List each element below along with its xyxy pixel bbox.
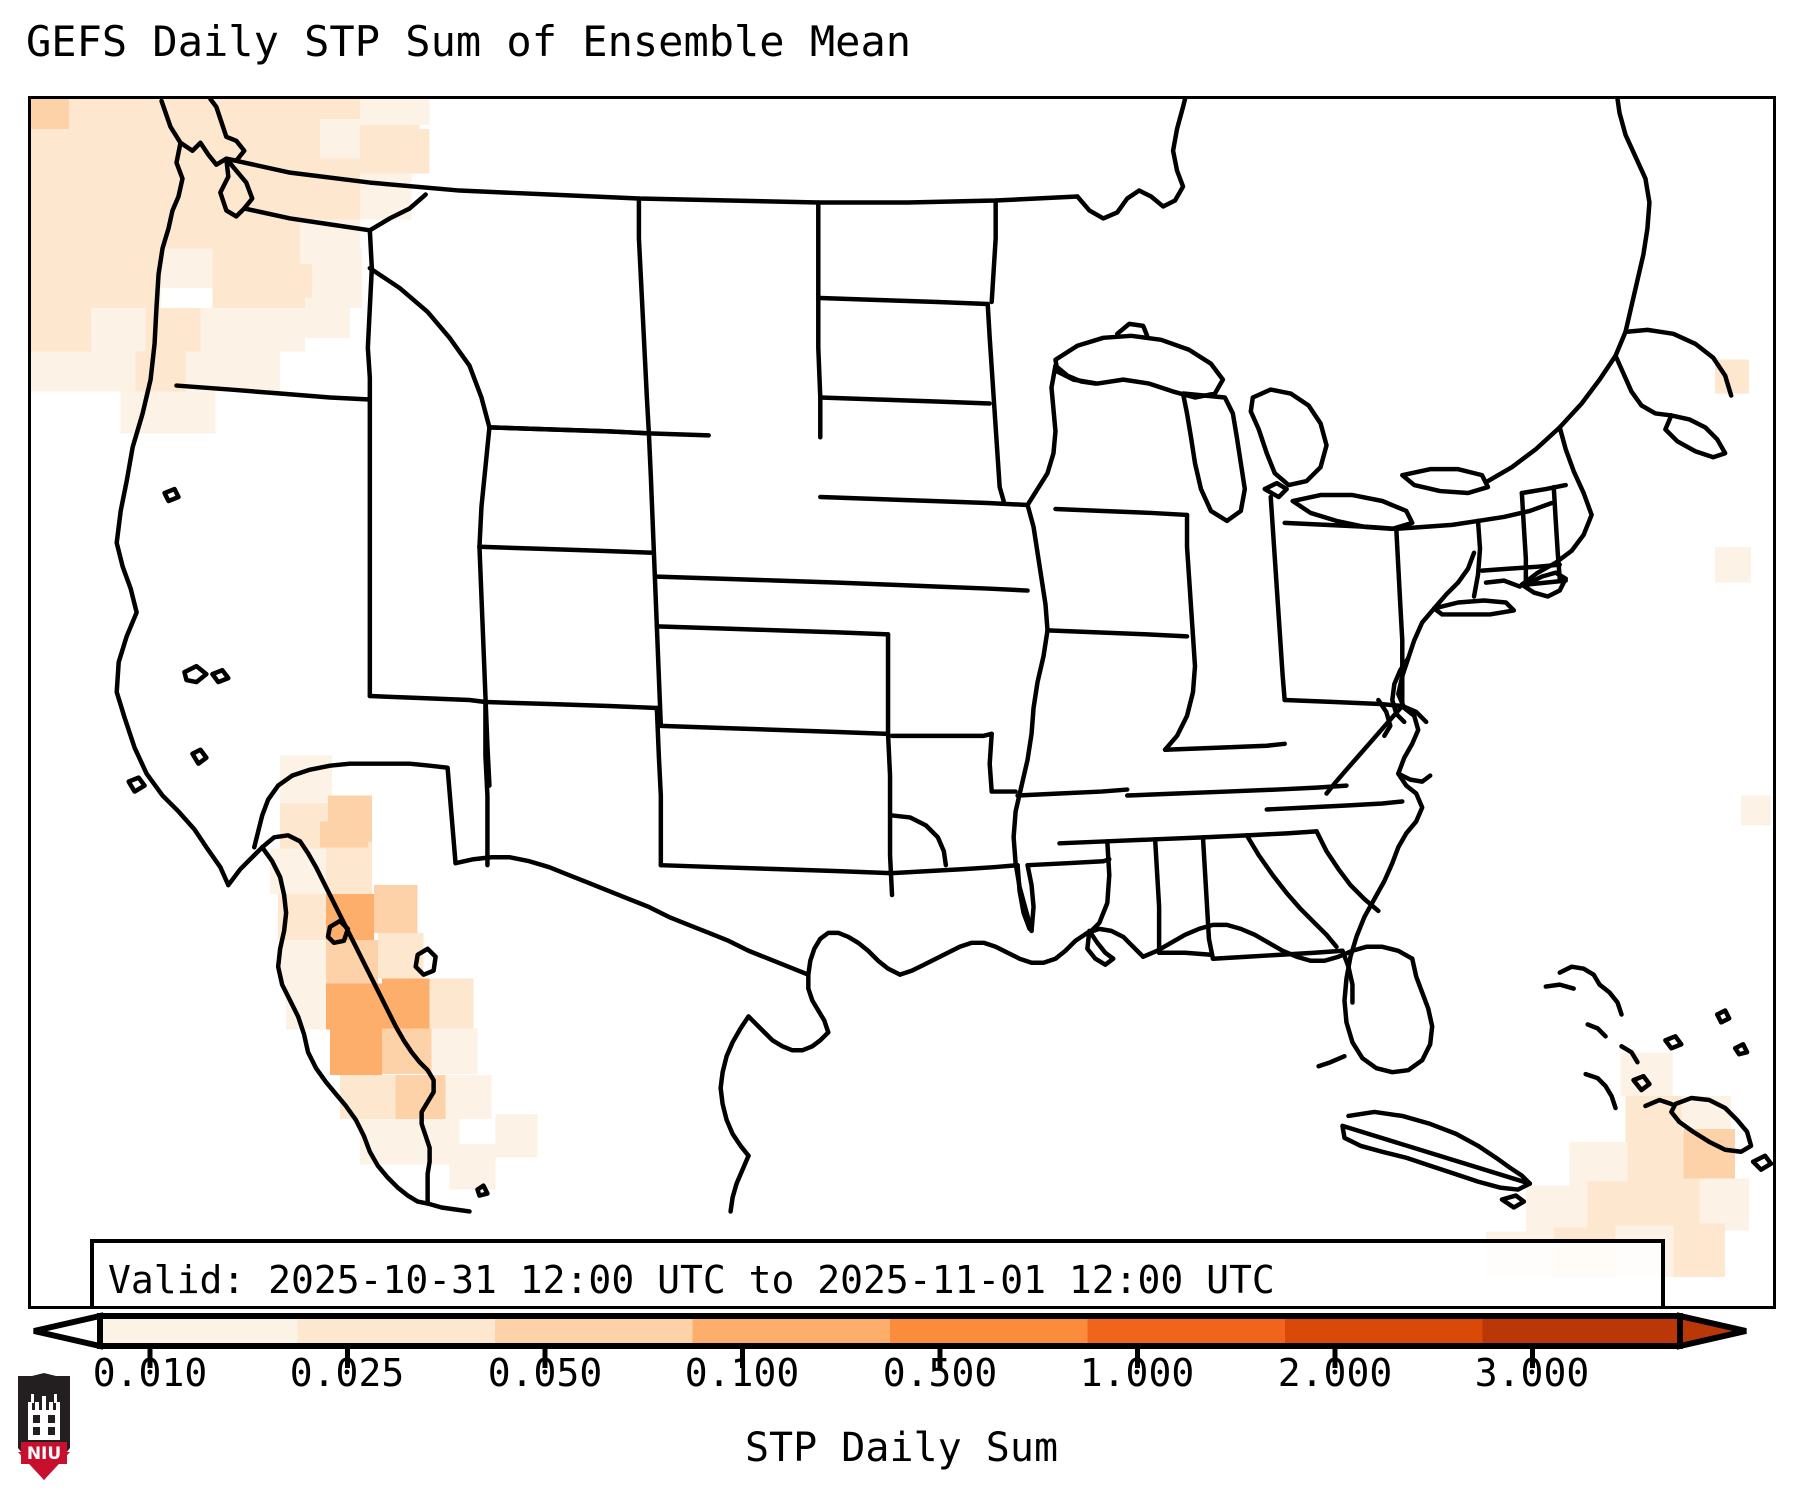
colorbar-axis-label: STP Daily Sum	[0, 1425, 1803, 1471]
cbar-seg-5	[1088, 1316, 1286, 1346]
metadata-box: Valid: 2025-10-31 12:00 UTC to 2025-11-0…	[90, 1239, 1665, 1309]
cbar-seg-3	[693, 1316, 891, 1346]
cbar-extend-min	[34, 1316, 100, 1346]
page-title: GEFS Daily STP Sum of Ensemble Mean	[26, 18, 911, 66]
cbar-label-4: 0.500	[883, 1352, 997, 1394]
cbar-label-7: 3.000	[1475, 1352, 1589, 1394]
figure-canvas: GEFS Daily STP Sum of Ensemble Mean	[0, 0, 1803, 1500]
cbar-seg-7	[1483, 1316, 1681, 1346]
cbar-label-6: 2.000	[1278, 1352, 1392, 1394]
cbar-seg-1	[298, 1316, 496, 1346]
colorbar-tick-labels: 0.010 0.025 0.050 0.100 0.500 1.000 2.00…	[0, 1352, 1803, 1402]
niu-logo-text: NIU	[27, 1444, 61, 1464]
cbar-seg-0	[100, 1316, 298, 1346]
cbar-seg-2	[495, 1316, 693, 1346]
cbar-label-5: 1.000	[1080, 1352, 1194, 1394]
map-geography-layer	[31, 99, 1773, 1306]
cbar-extend-max	[1680, 1316, 1746, 1346]
cbar-label-2: 0.050	[488, 1352, 602, 1394]
map-panel[interactable]: Valid: 2025-10-31 12:00 UTC to 2025-11-0…	[28, 96, 1776, 1309]
cbar-seg-6	[1285, 1316, 1483, 1346]
valid-time-line: Valid: 2025-10-31 12:00 UTC to 2025-11-0…	[108, 1255, 1661, 1305]
cbar-label-3: 0.100	[685, 1352, 799, 1394]
cbar-label-1: 0.025	[290, 1352, 404, 1394]
cbar-label-0: 0.010	[93, 1352, 207, 1394]
cbar-seg-4	[890, 1316, 1088, 1346]
niu-logo: NIU	[14, 1372, 74, 1482]
